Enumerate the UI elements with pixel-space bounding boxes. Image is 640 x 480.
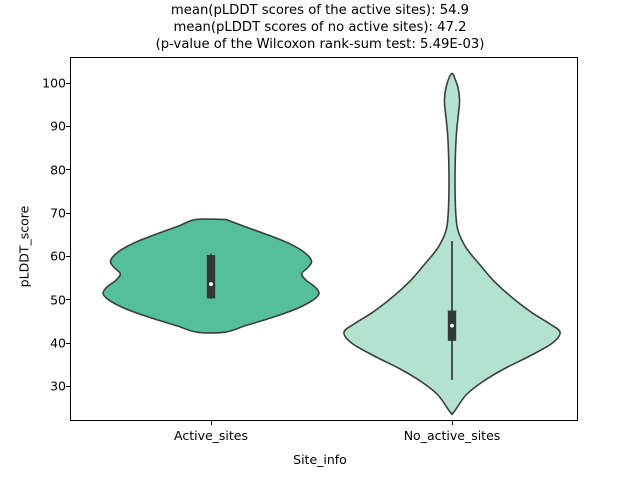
median-marker — [209, 282, 213, 286]
y-tick-label: 40 — [50, 336, 66, 351]
y-tick-mark — [66, 213, 70, 214]
y-tick-mark — [66, 299, 70, 300]
y-tick-mark — [66, 343, 70, 344]
violin-plot-figure: mean(pLDDT scores of the active sites): … — [0, 0, 640, 480]
y-tick-mark — [66, 386, 70, 387]
y-tick-label: 90 — [50, 119, 66, 134]
x-axis-label: Site_info — [0, 452, 640, 467]
y-tick-mark — [66, 256, 70, 257]
violin-shapes — [0, 0, 640, 480]
y-axis-label: pLDDT_score — [17, 147, 32, 347]
iqr-box — [207, 255, 215, 298]
x-tick-mark — [211, 421, 212, 425]
y-tick-label: 80 — [50, 162, 66, 177]
y-tick-mark — [66, 126, 70, 127]
x-tick-label: No_active_sites — [404, 428, 501, 443]
y-tick-label: 60 — [50, 249, 66, 264]
y-tick-label: 70 — [50, 206, 66, 221]
y-tick-label: 100 — [42, 76, 66, 91]
x-tick-label: Active_sites — [174, 428, 248, 443]
y-tick-label: 50 — [50, 292, 66, 307]
violin-active-sites — [103, 219, 319, 333]
y-tick-mark — [66, 83, 70, 84]
y-tick-label: 30 — [50, 379, 66, 394]
median-marker — [450, 324, 454, 328]
violin-no-active-sites — [344, 73, 560, 414]
x-tick-mark — [452, 421, 453, 425]
y-tick-mark — [66, 169, 70, 170]
